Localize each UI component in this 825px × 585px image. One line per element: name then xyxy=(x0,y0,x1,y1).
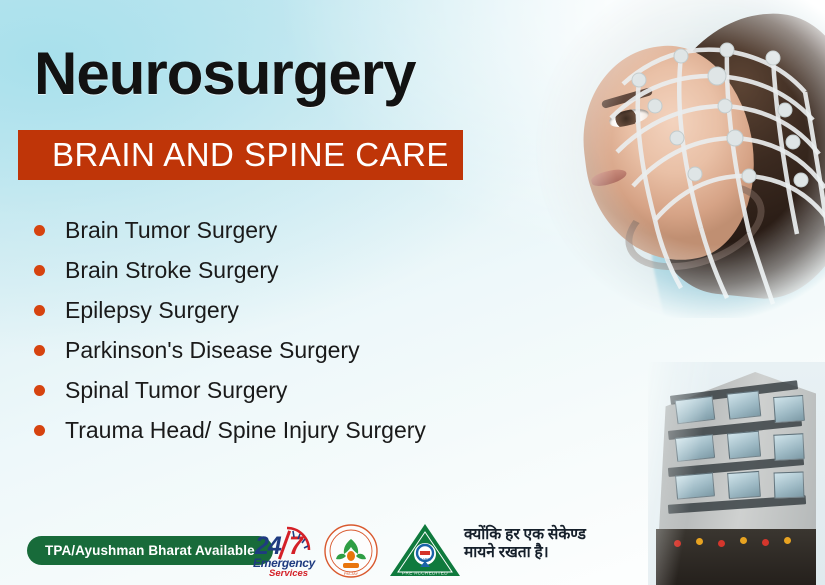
decoration xyxy=(762,539,769,546)
svg-text:PM-JAY: PM-JAY xyxy=(344,571,359,576)
decoration xyxy=(674,540,681,547)
nabh-pre-accredited-badge-icon: NABH PRE ACCREDITED xyxy=(388,521,462,579)
window xyxy=(773,395,805,423)
decoration xyxy=(784,537,791,544)
hindi-tagline-line1: क्योंकि हर एक सेकेण्ड xyxy=(464,526,586,544)
service-label: Brain Stroke Surgery xyxy=(65,257,278,284)
window xyxy=(675,434,715,462)
service-label: Epilepsy Surgery xyxy=(65,297,239,324)
ground-floor-entrance xyxy=(656,529,816,585)
neurosurgery-poster: Neurosurgery BRAIN AND SPINE CARE Brain … xyxy=(0,0,825,585)
list-item: Brain Stroke Surgery xyxy=(34,250,554,290)
bullet-icon xyxy=(34,305,45,316)
tpa-ayushman-badge: TPA/Ayushman Bharat Available xyxy=(27,536,273,565)
hospital-building-photo xyxy=(648,362,825,585)
subtitle-banner: BRAIN AND SPINE CARE xyxy=(18,130,463,180)
pre-accredited-caption: PRE ACCREDITED xyxy=(402,571,448,576)
list-item: Brain Tumor Surgery xyxy=(34,210,554,250)
bullet-icon xyxy=(34,265,45,276)
window xyxy=(675,396,716,424)
window xyxy=(727,431,761,460)
decoration xyxy=(718,540,725,547)
bullet-icon xyxy=(34,385,45,396)
services-label: Services xyxy=(269,568,308,579)
list-item: Trauma Head/ Spine Injury Surgery xyxy=(34,410,554,450)
page-title: Neurosurgery xyxy=(34,44,415,104)
service-label: Parkinson's Disease Surgery xyxy=(65,337,360,364)
window xyxy=(727,471,761,499)
service-label: Trauma Head/ Spine Injury Surgery xyxy=(65,417,426,444)
bullet-icon xyxy=(34,425,45,436)
bullet-icon xyxy=(34,225,45,236)
list-item: Epilepsy Surgery xyxy=(34,290,554,330)
decoration xyxy=(696,538,703,545)
list-item: Spinal Tumor Surgery xyxy=(34,370,554,410)
window xyxy=(675,472,715,499)
service-label: Brain Tumor Surgery xyxy=(65,217,277,244)
nabh-mark: NABH xyxy=(419,557,431,562)
subtitle-text: BRAIN AND SPINE CARE xyxy=(18,136,449,174)
hindi-tagline-line2: मायने रखता है। xyxy=(464,544,586,562)
service-label: Spinal Tumor Surgery xyxy=(65,377,287,404)
hindi-tagline: क्योंकि हर एक सेकेण्ड मायने रखता है। xyxy=(464,526,586,563)
bullet-icon xyxy=(34,345,45,356)
list-item: Parkinson's Disease Surgery xyxy=(34,330,554,370)
window xyxy=(773,433,804,461)
window xyxy=(774,471,805,498)
ayushman-bharat-seal-icon: PM-JAY xyxy=(322,523,380,579)
window xyxy=(727,390,762,419)
emergency-services-logo: 24 7 Emergency Services xyxy=(253,518,315,578)
services-list: Brain Tumor Surgery Brain Stroke Surgery… xyxy=(34,210,554,450)
decoration xyxy=(740,537,747,544)
